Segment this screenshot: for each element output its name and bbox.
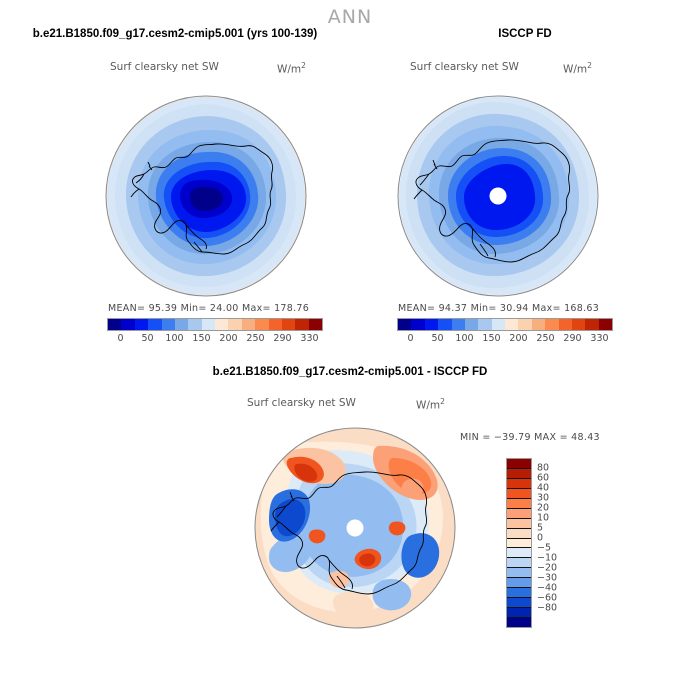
panel-test: b.e21.B1850.f09_g17.cesm2-cmip5.001 (yrs… [0,28,350,40]
panel-test-stats: MEAN= 95.39 Min= 24.00 Max= 178.76 [108,303,309,314]
panel-diff-map [247,418,463,636]
panel-test-variable: Surf clearsky net SW [110,61,219,73]
colorbar-diff-cells [506,458,532,628]
colorbar-obs-cells [397,318,613,331]
panel-obs-stats: MEAN= 94.37 Min= 30.94 Max= 168.63 [398,303,599,314]
panel-diff-stats: MIN = −39.79 MAX = 48.43 [460,432,600,443]
pole-marker [347,520,364,537]
panel-obs: ISCCP FD Surf clearsky net SW W/m2 [350,28,700,40]
tick-label: 330 [300,333,318,344]
tick-label: 290 [563,333,581,344]
tick-label: 250 [246,333,264,344]
panel-diff-colorbar: 80 60 40 30 20 10 5 0 −5 −10 −20 −30 −40… [506,458,571,628]
pole-marker [490,188,507,205]
panel-obs-units: W/m2 [563,61,592,76]
season-title: ANN [0,6,700,28]
tick-label: 330 [590,333,608,344]
panel-diff-variable: Surf clearsky net SW [247,397,356,409]
tick-label: −80 [537,603,557,614]
colorbar-main-cells [107,318,323,331]
tick-label: 0 [407,333,413,344]
panel-diff-title: b.e21.B1850.f09_g17.cesm2-cmip5.001 - IS… [0,366,700,378]
tick-label: 150 [192,333,210,344]
tick-label: 200 [219,333,237,344]
panel-diff: b.e21.B1850.f09_g17.cesm2-cmip5.001 - IS… [0,366,700,378]
tick-label: 100 [455,333,473,344]
panel-test-units: W/m2 [277,61,306,76]
colorbar-main-ticks: 0 50 100 150 200 250 290 330 [107,333,323,347]
colorbar-obs-ticks: 0 50 100 150 200 250 290 330 [397,333,613,347]
tick-label: 50 [141,333,153,344]
tick-label: 0 [117,333,123,344]
panel-test-title: b.e21.B1850.f09_g17.cesm2-cmip5.001 (yrs… [0,28,350,40]
tick-label: 50 [431,333,443,344]
tick-label: 290 [273,333,291,344]
tick-label: 150 [482,333,500,344]
panel-diff-units: W/m2 [416,397,445,412]
panel-test-map [98,86,314,304]
panel-test-colorbar: 0 50 100 150 200 250 290 330 [107,318,323,347]
tick-label: 250 [536,333,554,344]
colorbar-diff-ticks: 80 60 40 30 20 10 5 0 −5 −10 −20 −30 −40… [537,458,571,628]
tick-label: 100 [165,333,183,344]
panel-obs-title: ISCCP FD [350,28,700,40]
tick-label: 200 [509,333,527,344]
panel-obs-variable: Surf clearsky net SW [410,61,519,73]
panel-obs-map [390,86,606,304]
panel-obs-colorbar: 0 50 100 150 200 250 290 330 [397,318,613,347]
